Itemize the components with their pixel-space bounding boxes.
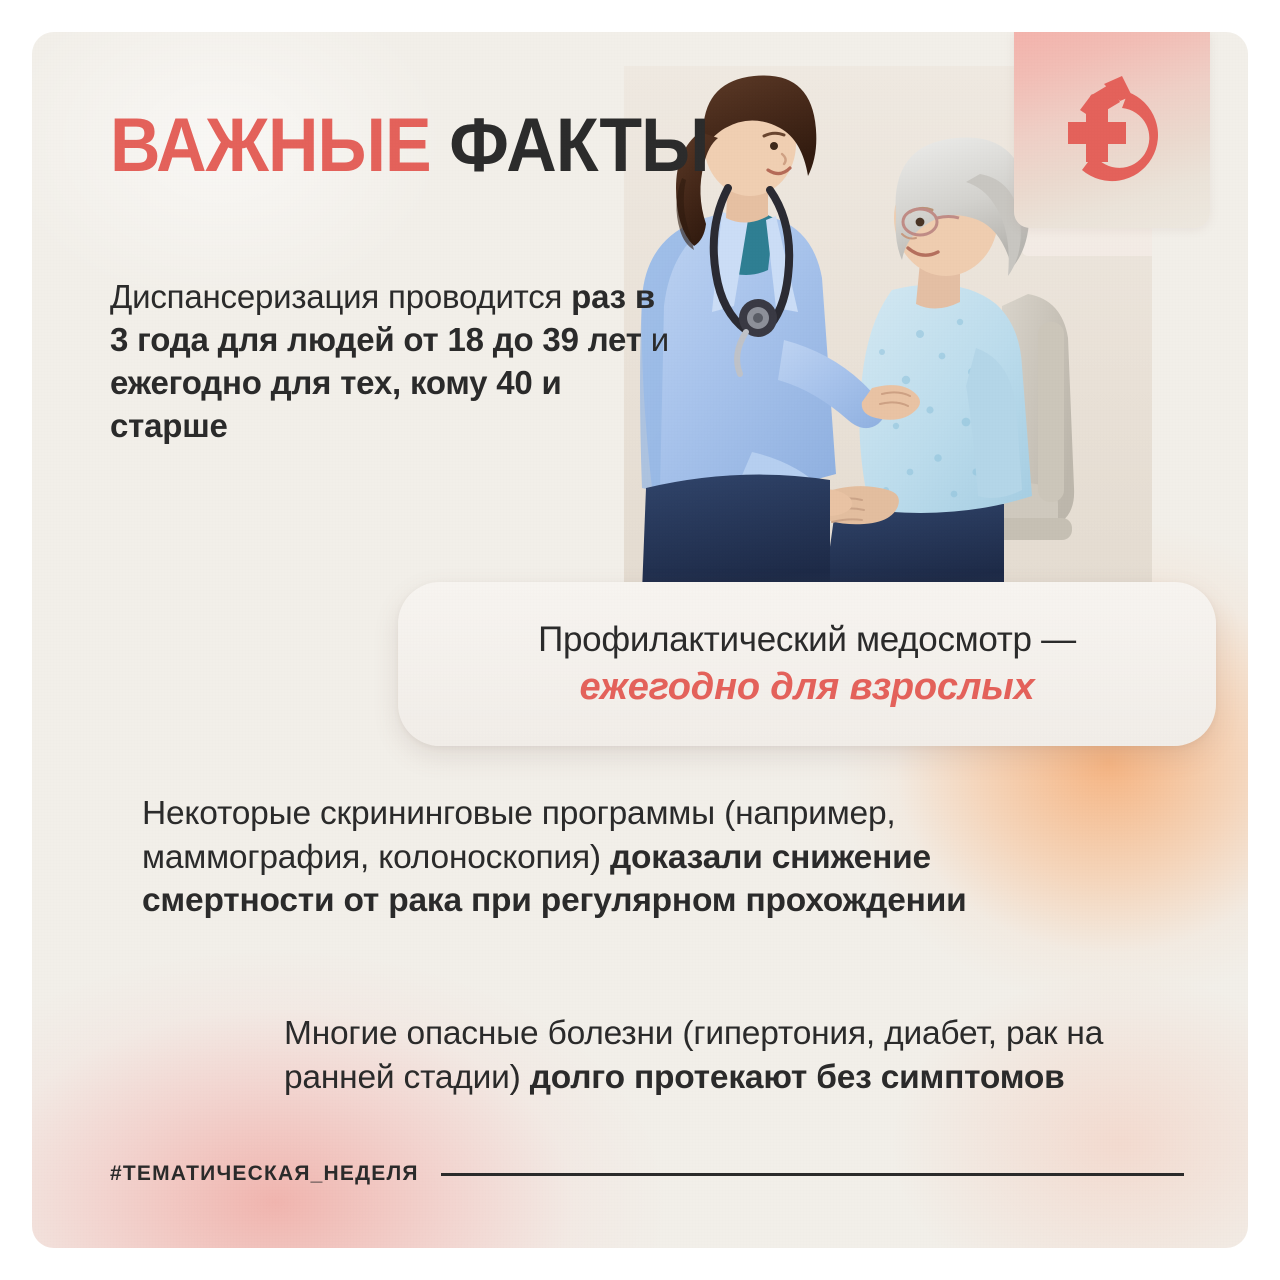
footer-divider bbox=[441, 1173, 1184, 1176]
highlight-line-2: ежегодно для взрослых bbox=[580, 666, 1035, 709]
fact-dispensary-frequency: Диспансеризация проводится раз в 3 года … bbox=[110, 276, 670, 448]
logo-card bbox=[1014, 32, 1210, 228]
text-run: Диспансеризация проводится bbox=[110, 278, 571, 315]
infographic-poster: ВАЖНЫЕ ФАКТЫ Диспансеризация проводится … bbox=[32, 32, 1248, 1248]
fact-asymptomatic-diseases: Многие опасные болезни (гипертония, диаб… bbox=[284, 1012, 1144, 1099]
hashtag-label: #ТЕМАТИЧЕСКАЯ_НЕДЕЛЯ bbox=[110, 1162, 419, 1186]
screenshot-canvas: ВАЖНЫЕ ФАКТЫ Диспансеризация проводится … bbox=[0, 0, 1280, 1280]
text-emphasis: долго протекают без симптомов bbox=[530, 1059, 1065, 1096]
text-run: и bbox=[642, 321, 669, 358]
title-accent-word: ВАЖНЫЕ bbox=[110, 103, 431, 188]
title-dark-word: ФАКТЫ bbox=[449, 103, 708, 188]
highlight-card: Профилактический медосмотр — ежегодно дл… bbox=[398, 582, 1216, 746]
page-title: ВАЖНЫЕ ФАКТЫ bbox=[110, 110, 709, 183]
fact-screening-programs: Некоторые скрининговые программы (наприм… bbox=[142, 792, 1022, 923]
medical-cross-renewal-icon bbox=[1042, 70, 1182, 198]
footer: #ТЕМАТИЧЕСКАЯ_НЕДЕЛЯ bbox=[110, 1162, 1208, 1186]
text-emphasis: ежегодно для тех, кому 40 и старше bbox=[110, 364, 562, 444]
highlight-line-1: Профилактический медосмотр — bbox=[538, 620, 1076, 660]
